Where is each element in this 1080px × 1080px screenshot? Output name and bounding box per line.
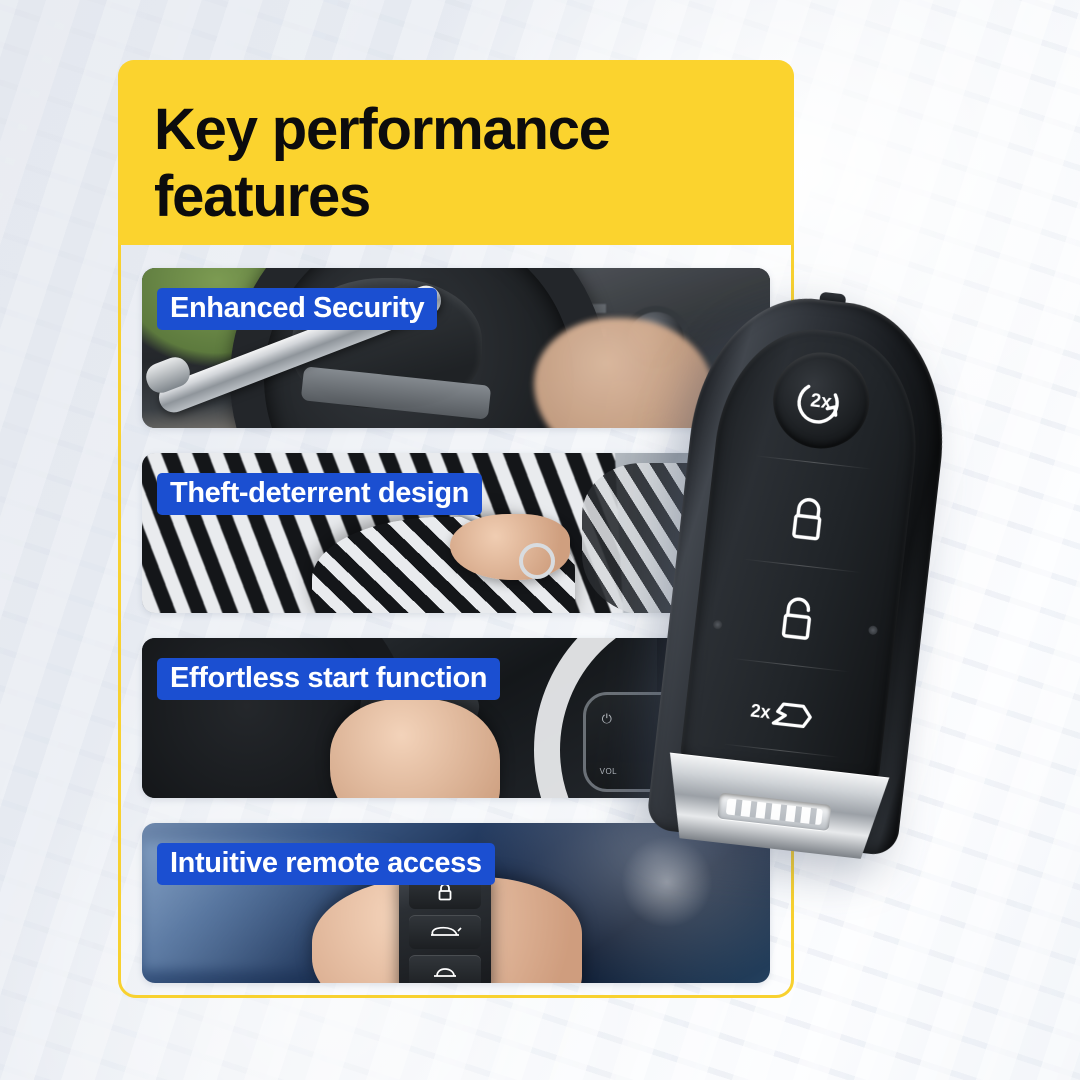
feature-card-intuitive-remote-access[interactable]: Intuitive remote access [142, 823, 770, 983]
small-fob-trunk-button [409, 955, 481, 983]
feature-badge: Intuitive remote access [157, 843, 495, 885]
remote-start-2x-icon: 2x [787, 366, 856, 435]
feature-badge: Enhanced Security [157, 288, 437, 330]
keyring-shape [519, 543, 555, 579]
feature-card-enhanced-security[interactable]: Enhanced Security [142, 268, 770, 428]
padlock-closed-icon [782, 492, 834, 549]
vol-label: VOL [600, 767, 618, 776]
driver-hand-shape [330, 699, 500, 798]
padlock-open-icon [770, 592, 822, 649]
bokeh-light-shape [621, 836, 713, 928]
header-banner: Key performance features [118, 60, 794, 245]
unlock-button[interactable] [732, 574, 860, 665]
small-fob-car-button [409, 915, 481, 949]
lock-button[interactable] [743, 475, 871, 566]
feature-badge: Theft-deterrent design [157, 473, 482, 515]
feature-label: Effortless start function [170, 664, 487, 693]
power-icon: ⏻ [602, 711, 613, 727]
feature-label: Theft-deterrent design [170, 479, 469, 508]
svg-text:2x: 2x [809, 390, 833, 413]
infographic-canvas: Key performance features Enhanced Securi… [0, 0, 1080, 1080]
page-title: Key performance features [154, 96, 754, 231]
svg-text:2x: 2x [749, 700, 771, 722]
feature-badge: Effortless start function [157, 658, 500, 700]
feature-label: Intuitive remote access [170, 849, 482, 878]
trunk-2x-icon: 2x [745, 688, 826, 742]
feature-label: Enhanced Security [170, 294, 424, 323]
